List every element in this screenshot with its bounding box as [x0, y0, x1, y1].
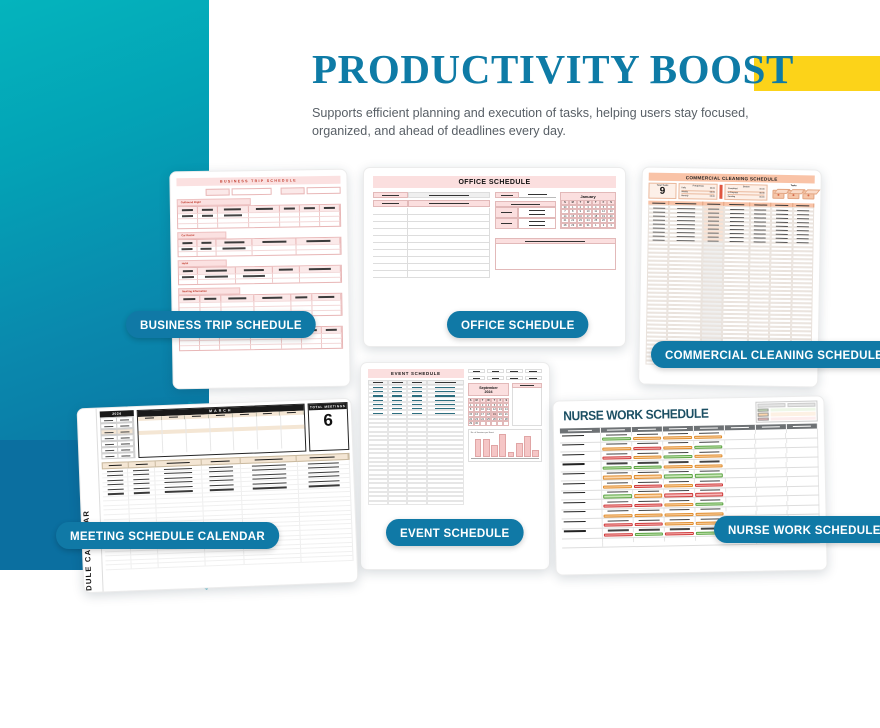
cleaning-frequency-summary: Frequency Daily00.00 Weekly00.00 Monthly… [678, 183, 718, 200]
card-nurse-work-schedule[interactable]: NURSE WORK SCHEDULE [552, 395, 827, 575]
event-left-column: EVENT SCHEDULE [368, 369, 464, 505]
event-calendar-header: September 2024 [468, 383, 510, 396]
event-right-column: September 2024 SMTWTFS 1234567 891011121… [468, 369, 542, 505]
sheet-business-trip: BUSINESS TRIP SCHEDULE Outbound Flight C… [170, 170, 349, 389]
label-office-schedule[interactable]: OFFICE SCHEDULE [447, 311, 589, 338]
business-trip-section: Outbound Flight [177, 197, 341, 229]
box-icon [772, 190, 784, 199]
office-contact-role [495, 207, 518, 218]
office-contact-value [518, 218, 556, 229]
event-meta-bar [468, 369, 542, 373]
chart-bars [471, 434, 539, 457]
office-time-header [373, 200, 408, 207]
label-nurse-work-schedule[interactable]: NURSE WORK SCHEDULE [714, 516, 880, 543]
office-contact-row [495, 218, 557, 229]
business-trip-title: BUSINESS TRIP SCHEDULE [176, 176, 340, 187]
cleaning-total-value: 9 [651, 187, 673, 197]
office-activity-rows [373, 208, 490, 278]
office-right-column: January SMTWTFS 30123456 78910111213 141… [495, 192, 616, 278]
card-meeting-schedule-calendar[interactable]: MEETING SCHEDULE CALENDAR 2024 [77, 398, 359, 593]
page-title: PRODUCTIVITY BOOST [312, 48, 852, 91]
office-note-block [495, 238, 616, 270]
box-icon [802, 190, 814, 199]
office-department-label [373, 192, 408, 198]
event-calendar-year: 2024 [484, 390, 492, 394]
event-title: EVENT SCHEDULE [368, 369, 464, 378]
cleaning-title: COMMERCIAL CLEANING SCHEDULE [649, 173, 815, 184]
box-icon [787, 190, 799, 199]
office-title: OFFICE SCHEDULE [373, 176, 616, 188]
office-contact-row [495, 207, 557, 218]
event-calendar-grid: SMTWTFS 1234567 891011121314 15161718192… [468, 398, 510, 426]
business-trip-meta-row [177, 187, 341, 197]
meeting-calendar-grid [138, 415, 305, 454]
cleaning-status-summary: Status Completed00.00 In Progress00.00 P… [725, 184, 768, 201]
cleaning-tasks-boxes: Tasks [769, 185, 814, 202]
office-calendar: January SMTWTFS 30123456 78910111213 141… [560, 192, 616, 229]
meeting-year-block: 2024 [100, 410, 136, 459]
event-table-body [368, 385, 464, 505]
label-commercial-cleaning-schedule[interactable]: COMMERCIAL CLEANING SCHEDULE [651, 341, 880, 368]
office-date-label [495, 192, 520, 198]
business-trip-section: Car Rental [177, 230, 341, 257]
office-calendar-grid: SMTWTFS 30123456 78910111213 14151617181… [561, 200, 615, 228]
label-business-trip-schedule[interactable]: BUSINESS TRIP SCHEDULE [126, 311, 316, 338]
nurse-legend-item [758, 416, 816, 421]
event-notes-label [512, 383, 542, 388]
event-table-header [368, 380, 464, 385]
office-contact-value [518, 207, 556, 218]
cleaning-divider [720, 185, 723, 199]
label-meeting-schedule-calendar[interactable]: MEETING SCHEDULE CALENDAR [56, 522, 279, 549]
office-left-column [373, 192, 490, 278]
office-note-label [495, 238, 616, 244]
office-date-value [519, 192, 556, 198]
cleaning-total-tasks: Total Tasks 9 [648, 183, 676, 199]
business-trip-section: Hotel [178, 258, 342, 285]
meeting-calendar: MARCH [137, 404, 307, 458]
label-event-schedule[interactable]: EVENT SCHEDULE [386, 519, 523, 546]
office-contact-role [495, 218, 518, 229]
office-calendar-month: January [561, 193, 615, 200]
meeting-total-block: TOTAL MEETINGS 6 [308, 402, 350, 452]
nurse-title: NURSE WORK SCHEDULE [559, 403, 708, 426]
meeting-total-value: 6 [309, 409, 348, 432]
nurse-legend [755, 401, 817, 423]
sheet-nurse: NURSE WORK SCHEDULE [553, 396, 826, 574]
cleaning-tasks-label: Tasks [773, 185, 815, 188]
header: PRODUCTIVITY BOOST Supports efficient pl… [312, 48, 852, 140]
office-department-value [408, 192, 490, 198]
event-sessions-chart: No. of Sessions per Event [468, 429, 542, 462]
office-note-body[interactable] [495, 244, 616, 270]
event-meta-bar [468, 376, 542, 380]
event-notes-body[interactable] [512, 388, 542, 426]
meeting-table-body [102, 460, 354, 571]
sheet-meeting: MEETING SCHEDULE CALENDAR 2024 [78, 399, 358, 592]
card-business-trip-schedule[interactable]: BUSINESS TRIP SCHEDULE Outbound Flight C… [169, 169, 350, 390]
page-subtitle: Supports efficient planning and executio… [312, 105, 807, 141]
office-activity-header [408, 200, 490, 207]
